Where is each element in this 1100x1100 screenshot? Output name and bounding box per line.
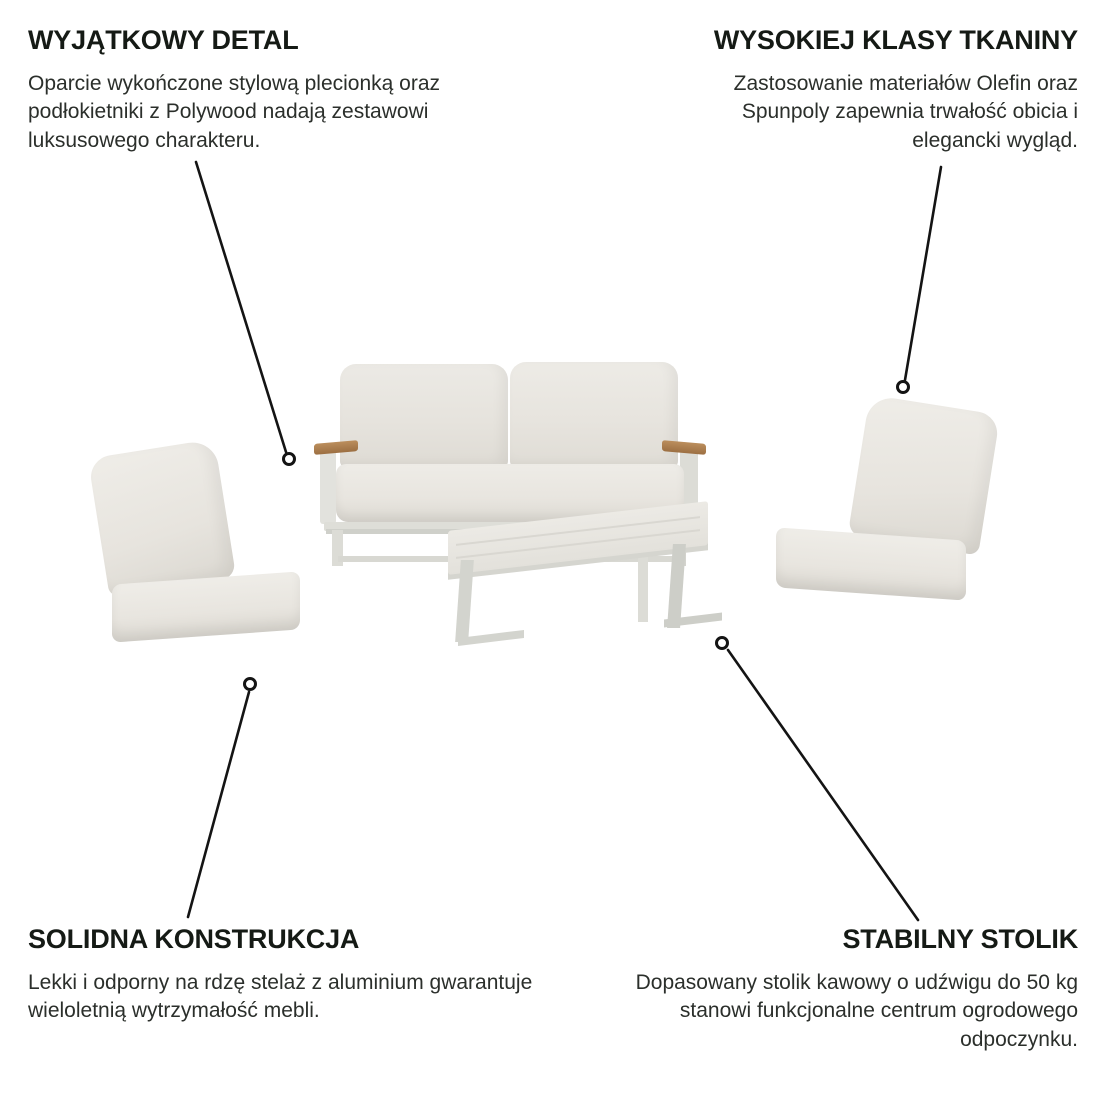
callout-body: Oparcie wykończone stylową plecionką ora… bbox=[28, 70, 548, 154]
armchair-left bbox=[72, 430, 322, 680]
armchair-right bbox=[762, 392, 1012, 642]
callout-stabilny-stolik: STABILNY STOLIK Dopasowany stolik kawowy… bbox=[578, 925, 1078, 1054]
sofa-back-cushion-left bbox=[340, 364, 508, 468]
armchair-left-bottom-rail bbox=[84, 649, 264, 668]
callout-solidna-konstrukcja: SOLIDNA KONSTRUKCJA Lekki i odporny na r… bbox=[28, 925, 548, 1026]
sofa-arm-post-left bbox=[320, 450, 336, 524]
armchair-right-front-post bbox=[990, 516, 1011, 618]
armchair-right-bottom-rail bbox=[818, 605, 1000, 625]
table-leg-front-right bbox=[667, 544, 686, 628]
callout-heading: SOLIDNA KONSTRUKCJA bbox=[28, 925, 548, 953]
callout-heading: STABILNY STOLIK bbox=[578, 925, 1078, 953]
infographic-canvas: WYJĄTKOWY DETAL Oparcie wykończone stylo… bbox=[0, 0, 1100, 1100]
callout-heading: WYJĄTKOWY DETAL bbox=[28, 26, 548, 54]
callout-body: Dopasowany stolik kawowy o udźwigu do 50… bbox=[578, 969, 1078, 1053]
callout-wysokiej-klasy-tkaniny: WYSOKIEJ KLASY TKANINY Zastosowanie mate… bbox=[648, 26, 1078, 155]
product-image bbox=[0, 330, 1100, 720]
coffee-table bbox=[448, 516, 726, 646]
sofa-back-cushion-right bbox=[510, 362, 678, 468]
callout-wyjatkowy-detal: WYJĄTKOWY DETAL Oparcie wykończone stylo… bbox=[28, 26, 548, 155]
leader-line-solidna-konstrukcja bbox=[188, 692, 249, 917]
table-rear-leg bbox=[638, 552, 648, 622]
callout-body: Zastosowanie materiałów Olefin oraz Spun… bbox=[648, 70, 1078, 154]
armchair-right-back-cushion bbox=[848, 395, 1001, 556]
callout-heading: WYSOKIEJ KLASY TKANINY bbox=[648, 26, 1078, 54]
armchair-left-front-post bbox=[76, 562, 97, 662]
callout-body: Lekki i odporny na rdzę stelaż z alumini… bbox=[28, 969, 548, 1025]
